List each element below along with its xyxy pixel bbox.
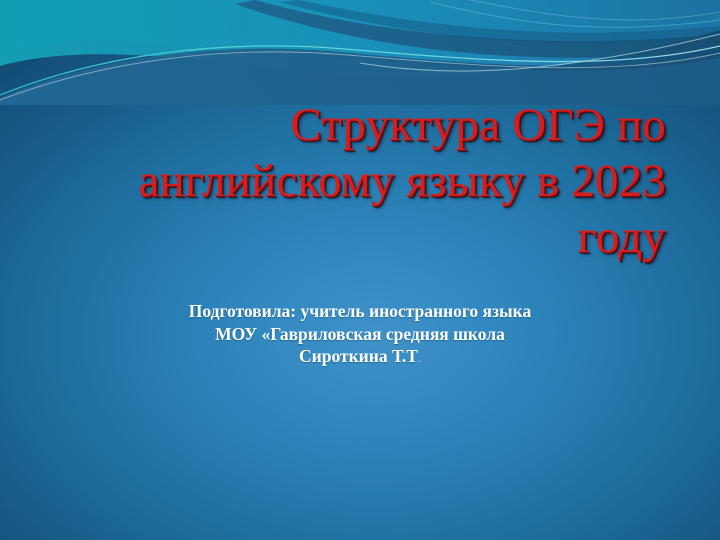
subtitle-author-name: Сироткина Т.Т	[299, 346, 418, 366]
presentation-slide: Структура ОГЭ по английскому языку в 202…	[0, 0, 720, 540]
subtitle-line-1: Подготовила: учитель иностранного языка	[110, 300, 610, 323]
title-line-1: Структура ОГЭ по	[40, 97, 666, 153]
slide-title: Структура ОГЭ по английскому языку в 202…	[40, 97, 666, 265]
wave-banner-graphic	[0, 0, 720, 105]
subtitle-line-2: МОУ «Гавриловская средняя школа	[110, 323, 610, 346]
title-line-2: английскому языку в 2023	[40, 153, 666, 209]
subtitle-line-3: Сироткина Т.Т.	[110, 345, 610, 370]
title-line-3: году	[40, 209, 666, 265]
slide-subtitle: Подготовила: учитель иностранного языка …	[110, 300, 610, 370]
subtitle-trailing-punctuation: .	[418, 351, 421, 365]
wave-banner-decoration	[0, 0, 720, 105]
